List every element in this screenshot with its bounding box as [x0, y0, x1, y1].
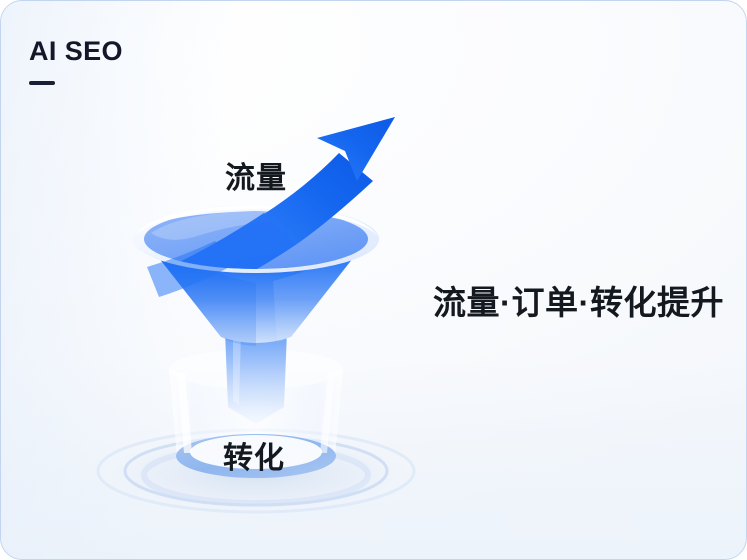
title-underline-rule: [29, 81, 55, 85]
page-title: AI SEO: [29, 37, 309, 67]
background-sheen-bottom: [1, 359, 746, 559]
funnel-stem: [225, 331, 287, 424]
brand-block: AI SEO: [29, 37, 309, 85]
glass-top-ellipse: [169, 349, 343, 389]
ai-seo-illustration-card: AI SEO 流量 转化 流量·订单·转化提升: [0, 0, 747, 560]
funnel-label-traffic: 流量: [225, 153, 287, 197]
funnel-rim: [133, 205, 379, 273]
funnel-label-conversion: 转化: [223, 433, 285, 477]
growth-arrow-tail-lower: [147, 241, 237, 297]
background-sheen-left: [1, 1, 231, 559]
funnel-cone: [144, 239, 368, 346]
growth-arrow-tail-inside: [156, 213, 297, 306]
tagline-text: 流量·订单·转化提升: [433, 276, 724, 324]
